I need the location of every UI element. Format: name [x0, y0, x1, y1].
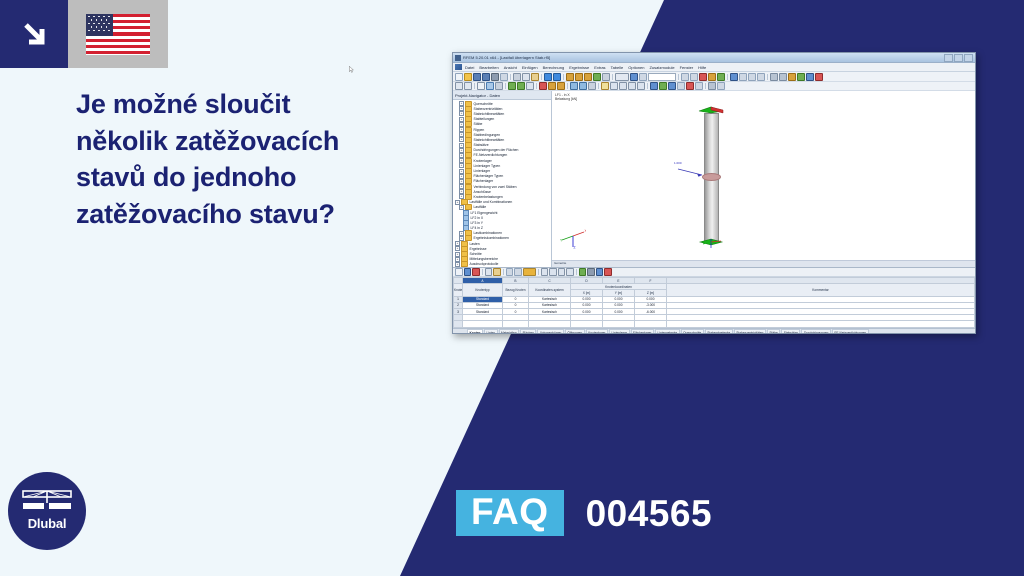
load-arrow-icon — [676, 167, 706, 177]
navigator-item-label: Lastfälle und Kombinationen — [470, 200, 513, 204]
svg-text:Y: Y — [560, 239, 563, 243]
select-icon[interactable] — [610, 82, 618, 90]
line-icon[interactable] — [464, 82, 472, 90]
rotate-icon[interactable] — [628, 82, 636, 90]
navigator-item-label: Verbindung von zwei Stäben — [474, 185, 517, 189]
table-sheet-tabs[interactable]: KnotenLinienMaterialienFlächenVolumenkör… — [453, 328, 975, 334]
window-controls[interactable] — [944, 54, 973, 62]
svg-text:Z: Z — [574, 246, 576, 250]
toolbar-separator — [510, 74, 511, 80]
menu-item-einfuegen[interactable]: Einfügen — [522, 65, 538, 70]
sheet-tab[interactable]: Querschnitte — [681, 329, 704, 334]
prev-case-icon[interactable] — [681, 73, 689, 81]
toolbar-separator — [727, 74, 728, 80]
info-icon[interactable] — [717, 82, 725, 90]
toolbar-separator — [503, 269, 504, 275]
sheet-tab[interactable]: Stabsätze — [781, 329, 800, 334]
load-icon[interactable] — [539, 82, 547, 90]
sheet-tab[interactable]: Materialien — [499, 329, 520, 334]
support-reaction-icon[interactable] — [717, 73, 725, 81]
table-header-node-type: Knotentyp — [463, 284, 503, 296]
navigator-item-label: Querschnitte — [474, 102, 493, 106]
menu-item-ansicht[interactable]: Ansicht — [504, 65, 517, 70]
navigator-item-label: Linienlager Typen — [474, 164, 501, 168]
render-mode-icon[interactable] — [677, 82, 685, 90]
loadcase-combo[interactable] — [648, 73, 676, 81]
menu-item-bearbeiten[interactable]: Bearbeiten — [479, 65, 498, 70]
grid-snap-icon[interactable] — [770, 73, 778, 81]
navigator-item-label: Stabnichtlinearitäten — [474, 138, 505, 142]
navigator-item-label: Stabsätze — [474, 143, 489, 147]
navigator-item-label: Ergebniskombinationen — [474, 236, 509, 240]
table-highlight-icon[interactable] — [523, 268, 536, 276]
menu-item-fenster[interactable]: Fenster — [680, 65, 694, 70]
model-viewport[interactable]: LF1 - in X Belastung [kN] — [552, 91, 975, 267]
table-filter-icon[interactable] — [506, 268, 514, 276]
navigator-item-label: Lasten — [470, 242, 480, 246]
close-button[interactable] — [964, 54, 973, 62]
toolbar-separator — [505, 83, 506, 89]
table-header-comment: Kommentar — [667, 284, 975, 296]
window-titlebar: RFEM 5.20.01 x64 - [Lastfall überlagern … — [453, 53, 975, 63]
sheet-tab[interactable]: Knoten — [467, 329, 483, 334]
table-paste-icon[interactable] — [493, 268, 501, 276]
support-bottom-icon — [696, 237, 726, 249]
navigator-item-label: Ausdruckprotokolle — [470, 262, 499, 266]
opening-icon[interactable] — [526, 82, 534, 90]
menu-item-berechnung[interactable]: Berechnung — [543, 65, 565, 70]
toolbar-separator — [678, 74, 679, 80]
toolbar-secondary[interactable] — [453, 82, 975, 91]
navigator-item-label: Linienlager — [474, 169, 491, 173]
table-edit-icon[interactable] — [464, 268, 472, 276]
help-icon[interactable] — [815, 73, 823, 81]
cross-section-icon[interactable] — [579, 82, 587, 90]
menu-item-tabelle[interactable]: Tabelle — [611, 65, 624, 70]
sheet-tab[interactable]: Durchdringungen — [801, 329, 830, 334]
navigator-item-label: Lastkombinationen — [474, 231, 502, 235]
section-icon[interactable] — [730, 73, 738, 81]
navigator-item-label: Stabexzentrizitäten — [474, 107, 503, 111]
menu-item-zusatzmodule[interactable]: Zusatzmodule — [649, 65, 674, 70]
toolbar-separator — [598, 83, 599, 89]
sheet-tab[interactable]: Knotenlager — [586, 329, 608, 334]
table-export-icon[interactable] — [579, 268, 587, 276]
navigator-item-label: Flächenlager Typen — [474, 174, 504, 178]
navigator-item-label: LF3 in Y — [471, 221, 484, 225]
comment-icon[interactable] — [601, 82, 609, 90]
navigator-item-label: Flächenlager — [474, 179, 494, 183]
sheet-tab[interactable]: Stabendgelenke — [705, 329, 733, 334]
navigator-item-label: Stabteilungen — [474, 117, 495, 121]
zoom-window-icon[interactable] — [575, 73, 583, 81]
toolbar-separator — [612, 74, 613, 80]
table-first-icon[interactable] — [541, 268, 549, 276]
surface-icon[interactable] — [486, 82, 494, 90]
app-icon — [455, 55, 461, 61]
toolbar-separator — [647, 83, 648, 89]
print-layout-icon[interactable] — [806, 73, 814, 81]
solid-icon[interactable] — [495, 82, 503, 90]
mirror-icon[interactable] — [637, 82, 645, 90]
pan-icon[interactable] — [602, 73, 610, 81]
table-header-coord-system: Koordinaten-system — [529, 284, 571, 296]
toolbar-separator — [538, 269, 539, 275]
isometry-icon[interactable] — [739, 73, 747, 81]
dlubal-logo-text: Dlubal — [8, 516, 86, 531]
results-icon[interactable] — [639, 73, 647, 81]
sheet-tab[interactable]: Öffnungen — [565, 329, 585, 334]
toolbar-separator — [536, 83, 537, 89]
render-icon[interactable] — [615, 73, 629, 81]
svg-text:X: X — [585, 229, 587, 233]
navigator-item-label: Durchdringungen der Flächen — [474, 148, 519, 152]
animation-icon[interactable] — [695, 82, 703, 90]
faq-number: 004565 — [586, 495, 712, 532]
navigator-item-label: Ergebnisse — [470, 247, 487, 251]
settings-icon[interactable] — [708, 82, 716, 90]
toolbar-separator — [563, 74, 564, 80]
member-icon[interactable] — [477, 82, 485, 90]
faq-footer: FAQ 004565 — [456, 490, 712, 536]
table-panel: ABCDEFKnoten Nr.KnotentypBezug KnotenKoo… — [453, 267, 975, 334]
navigator-item-label: Knotenbelastungen — [474, 195, 503, 199]
next-case-icon[interactable] — [690, 73, 698, 81]
navigator-item-label: FE-Netzverdichtungen — [474, 153, 508, 157]
result-diagram-icon[interactable] — [686, 82, 694, 90]
viewport-status: Isometrie — [552, 260, 976, 267]
sheet-tab[interactable]: Flächenlager — [631, 329, 654, 334]
copy-icon[interactable] — [522, 73, 530, 81]
toolbar-separator — [767, 74, 768, 80]
menu-item-optionen[interactable]: Optionen — [628, 65, 644, 70]
us-flag-icon — [68, 0, 168, 68]
deformation-icon[interactable] — [699, 73, 707, 81]
group-icon[interactable] — [650, 82, 658, 90]
toolbar-separator — [482, 269, 483, 275]
viewport-label: LF1 - in X Belastung [kN] — [555, 93, 577, 102]
view-xy-icon[interactable] — [748, 73, 756, 81]
table-copy-icon[interactable] — [485, 268, 493, 276]
sheet-tab[interactable]: Volumenkörper — [537, 329, 563, 334]
table-header-node-no: Knoten Nr. — [454, 284, 463, 296]
dimension-icon[interactable] — [788, 73, 796, 81]
toolbar-separator — [576, 269, 577, 275]
visibility-icon[interactable] — [659, 82, 667, 90]
node-icon[interactable] — [455, 82, 463, 90]
menu-item-hilfe[interactable]: Hilfe — [698, 65, 706, 70]
sheet-tab[interactable]: Linien — [484, 329, 498, 334]
toolbar-separator — [567, 83, 568, 89]
redo-icon[interactable] — [553, 73, 561, 81]
sheet-tab[interactable]: Stäbe — [767, 329, 780, 334]
zoom-out-icon[interactable] — [593, 73, 601, 81]
loads-icon[interactable] — [708, 73, 716, 81]
hinge-icon[interactable] — [517, 82, 525, 90]
sheet-tab[interactable]: FE-Netzverdichtungen — [832, 329, 869, 334]
table-next-icon[interactable] — [558, 268, 566, 276]
table-settings-icon[interactable] — [596, 268, 604, 276]
coordinate-axes-icon: X Y Z — [560, 227, 586, 249]
material-icon[interactable] — [570, 82, 578, 90]
mouse-cursor-icon — [349, 66, 354, 73]
move-icon[interactable] — [619, 82, 627, 90]
new-icon[interactable] — [455, 73, 463, 81]
navigator-item-label: LF2 in X — [471, 216, 484, 220]
navigator-header: Projekt-Navigator - Daten — [453, 91, 551, 100]
cut-icon[interactable] — [513, 73, 521, 81]
support-top-icon — [696, 105, 726, 115]
sheet-tab[interactable]: Stabexzentrizitäten — [734, 329, 766, 334]
layer-icon[interactable] — [797, 73, 805, 81]
menu-item-datei[interactable]: Datei — [465, 65, 474, 70]
navigator-item-label: Schnitte — [470, 252, 482, 256]
save-icon[interactable] — [473, 73, 481, 81]
table-new-icon[interactable] — [455, 268, 463, 276]
table-print-icon[interactable] — [587, 268, 595, 276]
navigator-item-label: Mittelungsbereiche — [470, 257, 498, 261]
viewport-label-line-2: Belastung [kN] — [555, 97, 577, 101]
toolbar-primary[interactable] — [453, 72, 975, 82]
loadcase-icon[interactable] — [548, 82, 556, 90]
arrow-down-right-icon — [0, 0, 68, 68]
undo-icon[interactable] — [544, 73, 552, 81]
navigator-item-label: Knotenlager — [474, 159, 492, 163]
project-navigator[interactable]: Projekt-Navigator - Daten +Querschnitte+… — [453, 91, 552, 267]
menu-item-extras[interactable]: Extras — [594, 65, 605, 70]
navigator-item-label: LF4 in Z — [471, 226, 483, 230]
zoom-all-icon[interactable] — [566, 73, 574, 81]
language-badge-row — [0, 0, 168, 68]
rfem-application-window: RFEM 5.20.01 x64 - [Lastfall überlagern … — [452, 52, 976, 334]
object-snap-icon[interactable] — [779, 73, 787, 81]
truss-bridge-icon — [22, 490, 72, 516]
minimize-button[interactable] — [944, 54, 953, 62]
table-header-reference: Bezug Knoten — [503, 284, 529, 296]
table-help-icon[interactable] — [604, 268, 612, 276]
window-title: RFEM 5.20.01 x64 - [Lastfall überlagern … — [463, 55, 550, 60]
print-icon[interactable] — [491, 73, 499, 81]
zoom-in-icon[interactable] — [584, 73, 592, 81]
sheet-tab[interactable]: Flächen — [520, 329, 536, 334]
table-sort-icon[interactable] — [514, 268, 522, 276]
navigator-item-label: Anschlüsse — [474, 190, 491, 194]
workspace: Projekt-Navigator - Daten +Querschnitte+… — [453, 91, 975, 267]
faq-badge: FAQ — [456, 490, 564, 536]
headline-line-2: několik zatěžovacích — [76, 123, 436, 160]
navigator-item-label: Stabnichtlinearitäten — [474, 112, 505, 116]
node-table[interactable]: ABCDEFKnoten Nr.KnotentypBezug KnotenKoo… — [453, 277, 975, 328]
sheet-tab[interactable]: Linienlager — [609, 329, 630, 334]
headline-line-4: zatěžovacího stavu? — [76, 196, 436, 233]
sheet-tab[interactable]: Liniengelenke — [655, 329, 680, 334]
combination-icon[interactable] — [557, 82, 565, 90]
paste-icon[interactable] — [531, 73, 539, 81]
display-props-icon[interactable] — [668, 82, 676, 90]
headline-line-3: stavů do jednoho — [76, 159, 436, 196]
navigator-tree[interactable]: +Querschnitte+Stabexzentrizitäten+Stabni… — [453, 100, 551, 267]
calculate-icon[interactable] — [630, 73, 638, 81]
toolbar-separator — [541, 74, 542, 80]
navigator-item-label: Rippen — [474, 128, 485, 132]
toolbar-separator — [705, 83, 706, 89]
menu-item-ergebnisse[interactable]: Ergebnisse — [569, 65, 589, 70]
window-menu-icon[interactable] — [455, 64, 462, 70]
support-icon[interactable] — [508, 82, 516, 90]
maximize-button[interactable] — [954, 54, 963, 62]
menubar[interactable]: Datei Bearbeiten Ansicht Einfügen Berech… — [453, 63, 975, 72]
dlubal-logo: Dlubal — [8, 472, 86, 550]
navigator-item-label: Stabbedingungen — [474, 133, 501, 137]
toolbar-separator — [474, 83, 475, 89]
navigator-item-label: Lastfälle — [474, 205, 487, 209]
headline: Je možné sloučit několik zatěžovacích st… — [76, 86, 436, 233]
headline-line-1: Je možné sloučit — [76, 86, 436, 123]
view-xz-icon[interactable] — [757, 73, 765, 81]
table-last-icon[interactable] — [566, 268, 574, 276]
mesh-icon[interactable] — [588, 82, 596, 90]
slide-canvas: Je možné sloučit několik zatěžovacích st… — [0, 0, 1024, 576]
table-toolbar[interactable] — [453, 268, 975, 277]
navigator-item-label: LF1 Eigengewicht — [471, 211, 498, 215]
table-prev-icon[interactable] — [549, 268, 557, 276]
open-icon[interactable] — [464, 73, 472, 81]
print-preview-icon[interactable] — [500, 73, 508, 81]
table-group-header: Knoten Nr.KnotentypBezug KnotenKoordinat… — [454, 284, 975, 290]
save-all-icon[interactable] — [482, 73, 490, 81]
load-value-label: 1.000 — [674, 161, 682, 165]
navigator-item-label: Stäbe — [474, 122, 483, 126]
table-delete-icon[interactable] — [472, 268, 480, 276]
